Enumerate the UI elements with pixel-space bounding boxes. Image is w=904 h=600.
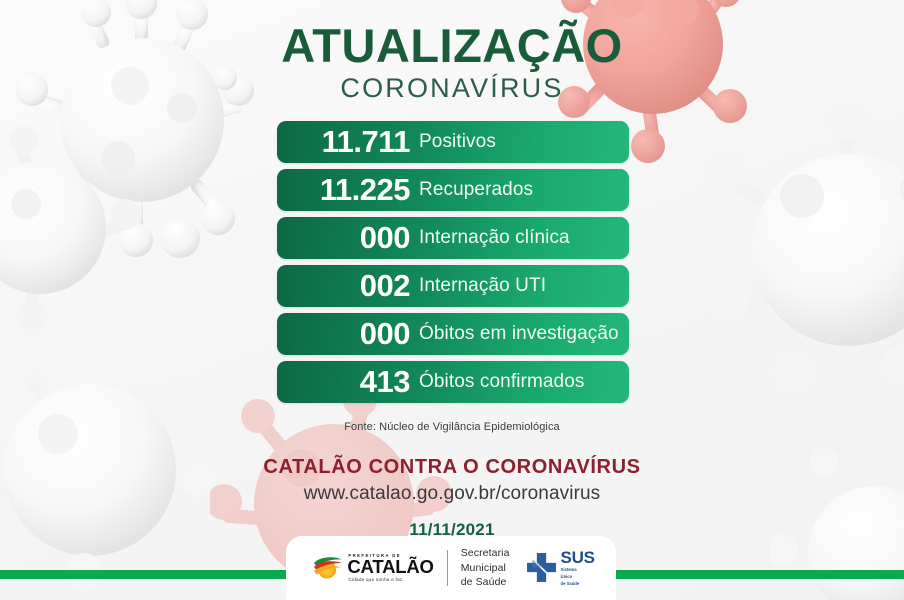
logo-prefeitura-catalao: PREFEITURA DE CATALÃO Cidade que sonha e… bbox=[313, 554, 433, 583]
campaign-website[interactable]: www.catalao.go.gov.br/coronavirus bbox=[0, 481, 904, 507]
catalao-wordmark: PREFEITURA DE CATALÃO Cidade que sonha e… bbox=[347, 554, 433, 583]
stat-label: Recuperados bbox=[419, 180, 533, 200]
stat-label: Internação UTI bbox=[419, 276, 546, 296]
stat-label: Óbitos confirmados bbox=[419, 372, 584, 392]
source-note: Fonte: Núcleo de Vigilância Epidemiológi… bbox=[0, 421, 904, 433]
sus-cross-icon bbox=[526, 552, 557, 583]
stat-number: 000 bbox=[277, 222, 410, 255]
secretaria-municipal-saude-label: Secretaria Municipal de Saúde bbox=[461, 546, 510, 591]
stat-label: Internação clínica bbox=[419, 228, 570, 248]
catalao-sun-swoosh-icon bbox=[313, 555, 343, 581]
stat-bar-obitos-investigacao: 000 Óbitos em investigação bbox=[277, 313, 629, 355]
virus-decoration-left-lower bbox=[0, 120, 160, 350]
page-subtitle: CORONAVÍRUS bbox=[0, 72, 904, 106]
stat-bar-recuperados: 11.225 Recuperados bbox=[277, 169, 629, 211]
stat-number: 11.225 bbox=[277, 174, 410, 207]
secretaria-line-3: de Saúde bbox=[461, 575, 510, 590]
secretaria-line-1: Secretaria bbox=[461, 546, 510, 561]
stat-bar-positivos: 11.711 Positivos bbox=[277, 121, 629, 163]
sus-sub-2: Único bbox=[561, 574, 595, 580]
stat-bar-internacao-uti: 002 Internação UTI bbox=[277, 265, 629, 307]
sus-sub-3: de Saúde bbox=[561, 581, 595, 587]
stat-number: 002 bbox=[277, 270, 410, 303]
sus-wordmark: SUS Sistema Único de Saúde bbox=[561, 549, 595, 588]
stat-number: 000 bbox=[277, 318, 410, 351]
stat-number: 413 bbox=[277, 366, 410, 399]
poster-canvas: ATUALIZAÇÃO CORONAVÍRUS 11.711 Positivos… bbox=[0, 0, 904, 600]
sus-sub-1: Sistema bbox=[561, 567, 595, 573]
campaign-block: CATALÃO CONTRA O CORONAVÍRUS www.catalao… bbox=[0, 455, 904, 540]
stat-number: 11.711 bbox=[277, 126, 410, 159]
footer-divider bbox=[447, 550, 448, 586]
stat-label: Óbitos em investigação bbox=[419, 324, 619, 344]
virus-decoration-right bbox=[690, 110, 904, 400]
catalao-slogan: Cidade que sonha e faz. bbox=[348, 578, 433, 583]
logo-sus: SUS Sistema Único de Saúde bbox=[526, 549, 595, 588]
stat-bar-obitos-confirmados: 413 Óbitos confirmados bbox=[277, 361, 629, 403]
catalao-name: CATALÃO bbox=[347, 558, 433, 577]
stat-label: Positivos bbox=[419, 132, 496, 152]
campaign-headline: CATALÃO CONTRA O CORONAVÍRUS bbox=[0, 455, 904, 480]
footer-logo-banner: PREFEITURA DE CATALÃO Cidade que sonha e… bbox=[286, 536, 616, 600]
header: ATUALIZAÇÃO CORONAVÍRUS bbox=[0, 22, 904, 106]
secretaria-line-2: Municipal bbox=[461, 561, 510, 576]
stat-bar-internacao-clinica: 000 Internação clínica bbox=[277, 217, 629, 259]
page-title: ATUALIZAÇÃO bbox=[0, 22, 904, 70]
statistics-list: 11.711 Positivos 11.225 Recuperados 000 … bbox=[277, 121, 629, 409]
sus-name: SUS bbox=[561, 549, 595, 566]
